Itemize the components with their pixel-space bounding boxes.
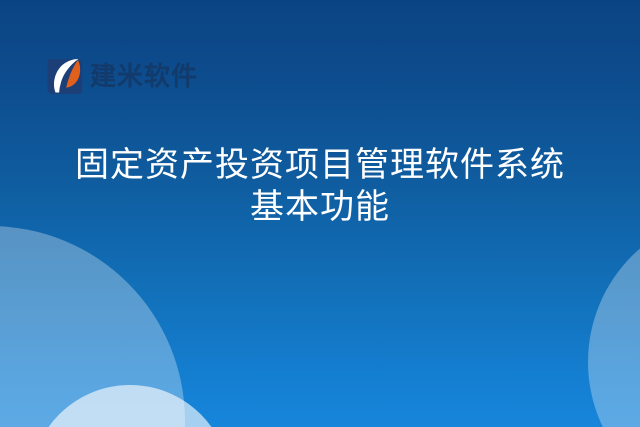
jianmi-logo-mark-icon xyxy=(44,56,86,98)
decorative-circle-left-small xyxy=(30,385,230,427)
brand-logo-text: 建米软件 xyxy=(90,64,198,90)
brand-logo: 建米软件 xyxy=(44,56,198,98)
decorative-circle-left-large xyxy=(0,226,185,427)
decorative-circle-right xyxy=(588,212,640,427)
presentation-slide: 建米软件 固定资产投资项目管理软件系统 基本功能 xyxy=(0,0,640,427)
slide-title: 固定资产投资项目管理软件系统 基本功能 xyxy=(0,144,640,228)
slide-title-line-2: 基本功能 xyxy=(0,186,640,228)
slide-title-line-1: 固定资产投资项目管理软件系统 xyxy=(0,144,640,186)
